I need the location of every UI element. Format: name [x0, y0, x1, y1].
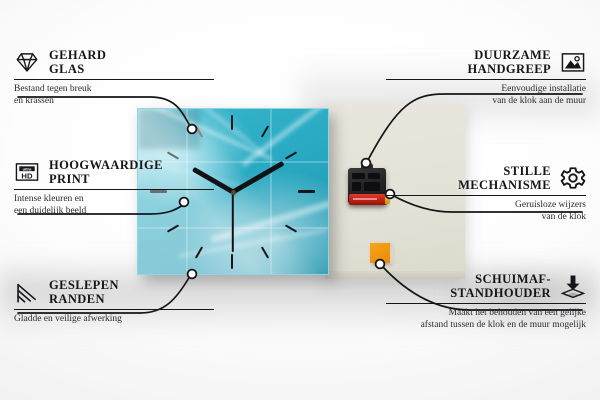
feature-title: GEHARD GLAS [49, 48, 106, 76]
feature-duurzame-handgreep[interactable]: DUURZAME HANDGREEP Eenvoudige installati… [386, 48, 586, 107]
feature-rule [14, 189, 214, 190]
feature-rule [386, 195, 586, 196]
feature-rule [14, 309, 214, 310]
gear-icon [560, 165, 586, 191]
feature-subtitle: Maakt het behouden van een gelijke afsta… [386, 308, 586, 331]
feature-title: SCHUIMAF- STANDHOUDER [450, 272, 551, 300]
feature-header: GESLEPEN RANDEN [14, 278, 214, 306]
feature-title: DUURZAME HANDGREEP [468, 48, 551, 76]
feature-stille-mechanisme[interactable]: STILLE MECHANISME Geruisloze wijzers van… [386, 164, 586, 223]
feature-header: DUURZAME HANDGREEP [386, 48, 586, 76]
feature-header: STILLE MECHANISME [386, 164, 586, 192]
feature-subtitle: Bestand tegen breuk en krassen [14, 84, 214, 107]
connector-dot-handgreep [362, 159, 371, 168]
feature-title: HOOGWAARDIGE PRINT [49, 158, 163, 186]
feature-header: SCHUIMAF- STANDHOUDER [386, 272, 586, 300]
feature-rule [386, 303, 586, 304]
svg-text:ultra: ultra [23, 166, 33, 171]
feature-title: GESLEPEN RANDEN [49, 278, 119, 306]
feature-title: STILLE MECHANISME [458, 164, 551, 192]
feature-rule [14, 79, 214, 80]
feature-header: GEHARD GLAS [14, 48, 214, 76]
infographic-stage: GEHARD GLAS Bestand tegen breuk en krass… [0, 0, 600, 400]
feature-header: ultra HD HOOGWAARDIGE PRINT [14, 158, 214, 186]
svg-text:HD: HD [21, 172, 33, 181]
diamond-icon [14, 49, 40, 75]
spacer-arrow-icon [560, 273, 586, 299]
feature-schuimafstandhouder[interactable]: SCHUIMAF- STANDHOUDER Maakt het behouden… [386, 272, 586, 331]
feature-geslepen-randen[interactable]: GESLEPEN RANDEN Gladde en veilige afwerk… [14, 278, 214, 326]
connector-dot-glas [188, 125, 197, 134]
feature-subtitle: Eenvoudige installatie van de klok aan d… [386, 84, 586, 107]
framed-picture-icon [560, 49, 586, 75]
feature-hoogwaardige-print[interactable]: ultra HD HOOGWAARDIGE PRINT Intense kleu… [14, 158, 214, 217]
beveled-edges-icon [14, 279, 40, 305]
feature-rule [386, 79, 586, 80]
feature-subtitle: Intense kleuren en een duidelijk beeld [14, 194, 214, 217]
feature-subtitle: Gladde en veilige afwerking [14, 314, 214, 326]
ultra-hd-icon: ultra HD [14, 159, 40, 185]
connector-dot-standhouder [376, 260, 385, 269]
feature-gehard-glas[interactable]: GEHARD GLAS Bestand tegen breuk en krass… [14, 48, 214, 107]
feature-subtitle: Geruisloze wijzers van de klok [386, 200, 586, 223]
